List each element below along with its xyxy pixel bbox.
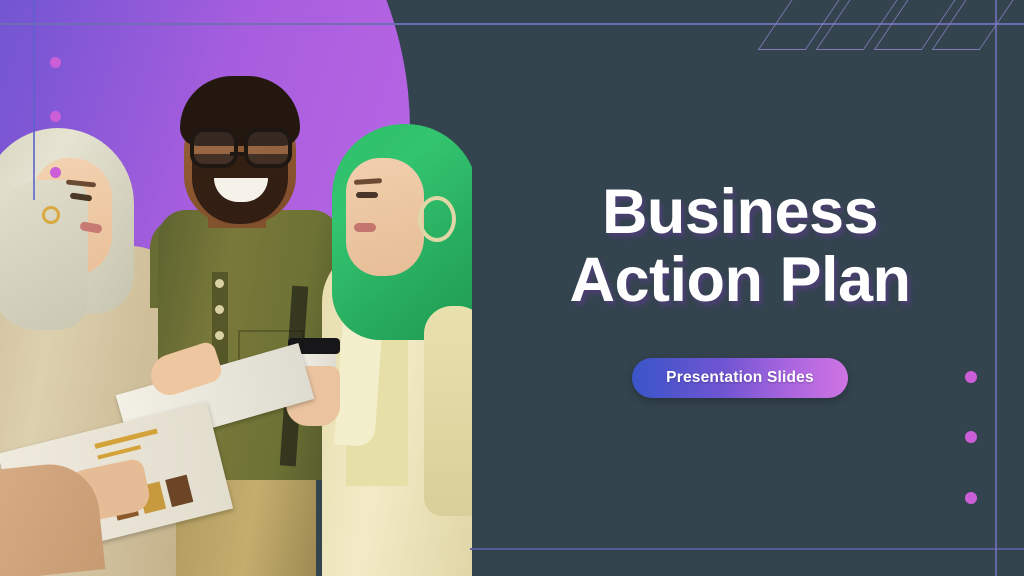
person-right-hoop-earring bbox=[418, 196, 456, 242]
decor-line-vertical-right bbox=[995, 0, 997, 576]
brochure-swatch bbox=[165, 475, 193, 507]
person-left-hijab-drape bbox=[0, 180, 88, 330]
person-center-button bbox=[215, 331, 224, 340]
title-line-1: Business bbox=[569, 178, 910, 246]
person-center-button bbox=[215, 279, 224, 288]
person-left-earring bbox=[42, 206, 60, 224]
glasses-lens-left-icon bbox=[190, 128, 238, 168]
hero-photo bbox=[0, 0, 472, 576]
person-right-arm bbox=[424, 306, 472, 516]
presentation-slides-button[interactable]: Presentation Slides bbox=[632, 358, 848, 398]
slide-content: Business Action Plan Presentation Slides bbox=[500, 0, 980, 576]
page-title: Business Action Plan bbox=[569, 178, 910, 314]
person-right-eye bbox=[356, 192, 378, 198]
person-right-lips bbox=[354, 223, 376, 232]
decor-line-vertical-left bbox=[33, 0, 35, 200]
person-right-face bbox=[346, 158, 424, 276]
decor-dot bbox=[50, 111, 61, 122]
glasses-bridge-icon bbox=[230, 152, 246, 156]
glasses-lens-right-icon bbox=[244, 128, 292, 168]
decor-dot bbox=[50, 167, 61, 178]
title-line-2: Action Plan bbox=[569, 246, 910, 314]
person-center-button bbox=[215, 305, 224, 314]
brochure-line bbox=[94, 429, 157, 449]
decor-dot bbox=[50, 57, 61, 68]
presentation-slide: Business Action Plan Presentation Slides bbox=[0, 0, 1024, 576]
brochure-line bbox=[97, 445, 141, 460]
